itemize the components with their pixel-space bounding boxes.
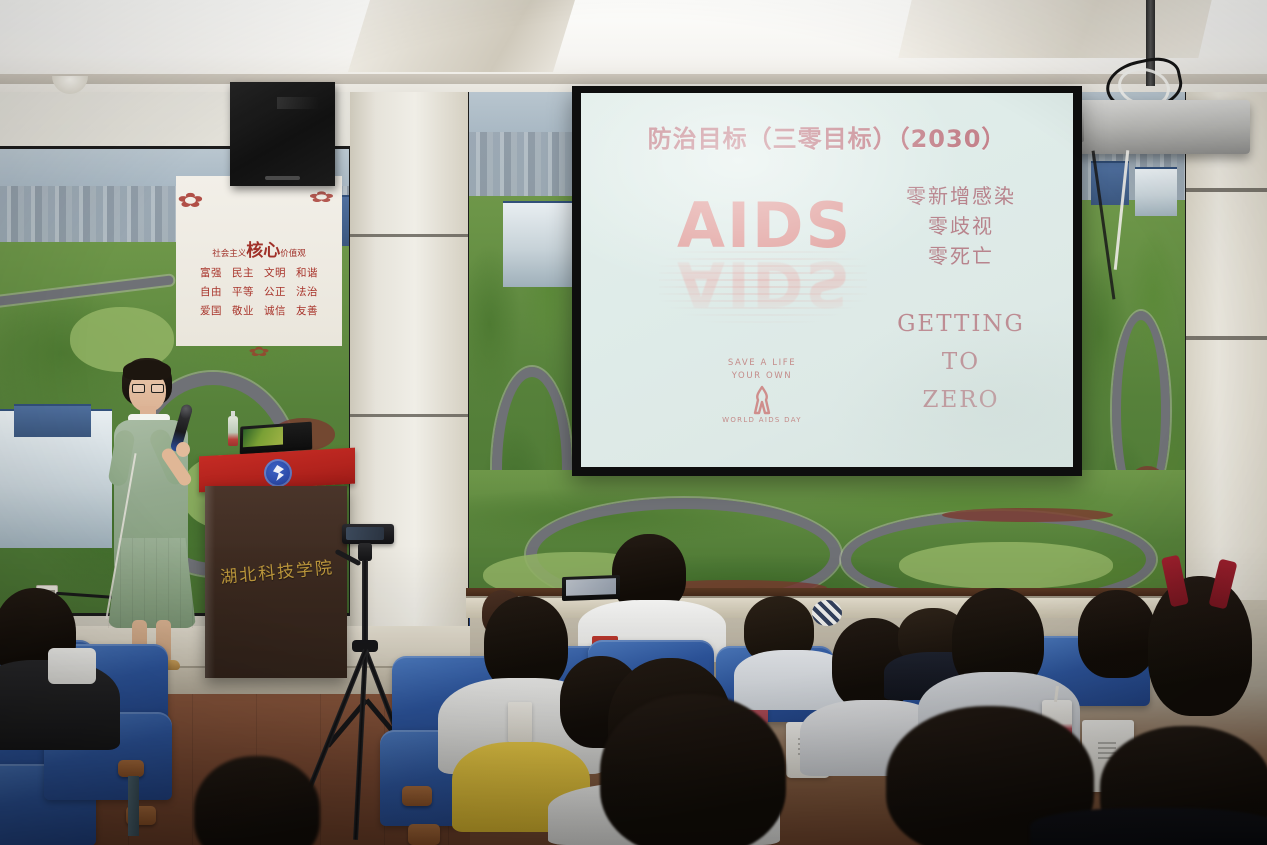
banner-heading-big: 核心: [246, 241, 280, 261]
core-value: 平等: [232, 283, 254, 302]
tripod-column: [362, 560, 368, 642]
motto-line-2: TO: [871, 343, 1051, 381]
ribbon-line-2: YOUR OWN: [687, 370, 837, 383]
seat-armrest: [408, 824, 440, 845]
slide-title: 防治目标（三零目标）（2030）: [581, 119, 1073, 154]
core-value: 富强: [200, 264, 222, 283]
banner-heading-prefix: 社会主义: [212, 249, 246, 259]
banner-heading-suffix: 价值观: [280, 249, 306, 259]
core-values-rows: 富强 民主 文明 和谐 自由 平等 公正 法治 爱国 敬业 诚信 友善: [176, 264, 342, 321]
core-value: 友善: [296, 302, 318, 321]
tissue-box: [508, 702, 532, 742]
core-values-row: 富强 民主 文明 和谐: [176, 264, 342, 283]
water-bottle: [228, 416, 238, 446]
core-value: 民主: [232, 264, 254, 283]
core-value: 公正: [264, 283, 286, 302]
university-logo-icon: [264, 459, 292, 487]
audience-member-head: [1148, 576, 1252, 716]
cloud-ornament-left-icon: ✿: [177, 188, 204, 212]
slide-goals-column: 零新增感染 零歧视 零死亡 GETTING TO ZERO: [871, 181, 1051, 419]
core-value: 爱国: [200, 302, 222, 321]
audience-member-sleeve: [48, 648, 96, 684]
ceiling-projector: [1068, 100, 1250, 154]
audience-member-head: [1078, 590, 1156, 678]
projection-screen-surface: 防治目标（三零目标）（2030） AIDS AIDS SAVE A LIFE Y…: [581, 93, 1073, 467]
goal-zero-discrimination: 零歧视: [871, 211, 1051, 241]
core-value: 文明: [264, 264, 286, 283]
hair-scrunchie: [812, 600, 842, 626]
glasses-icon: [132, 384, 164, 393]
ceiling-edge: [0, 74, 1267, 84]
seat-support-post: [128, 776, 139, 836]
audience-laptop: [562, 575, 620, 601]
projection-screen-frame: 防治目标（三零目标）（2030） AIDS AIDS SAVE A LIFE Y…: [572, 86, 1082, 476]
water-ripples: [659, 251, 867, 327]
getting-to-zero-block: GETTING TO ZERO: [871, 305, 1051, 419]
red-ribbon-icon: [752, 385, 772, 415]
seat-armrest: [402, 786, 432, 806]
core-value: 诚信: [264, 302, 286, 321]
goal-zero-new-infections: 零新增感染: [871, 181, 1051, 211]
recording-smartphone: [342, 524, 394, 544]
presenter-skirt: [108, 538, 196, 628]
presenter-fringe: [123, 360, 171, 380]
banner-heading: 社会主义核心价值观: [182, 236, 336, 261]
motto-line-1: GETTING: [871, 305, 1051, 343]
audience-laptop-screen: [566, 578, 616, 596]
goal-zero-deaths: 零死亡: [871, 241, 1051, 271]
motto-line-3: ZERO: [871, 381, 1051, 419]
audience-member-shoulders: [1030, 808, 1267, 845]
cloud-ornament-right-icon: ✿: [309, 188, 335, 206]
lecture-hall-photo: ✿ ✿ 社会主义核心价值观 富强 民主 文明 和谐 自由 平等 公正 法治 爱国…: [0, 0, 1267, 845]
core-values-row: 自由 平等 公正 法治: [176, 283, 342, 302]
core-values-row: 爱国 敬业 诚信 友善: [176, 302, 342, 321]
ceiling-beam: [348, 0, 575, 72]
core-value: 自由: [200, 283, 222, 302]
laptop-screen: [243, 427, 283, 448]
tripod-head: [358, 543, 372, 561]
seat-armrest: [118, 760, 144, 777]
core-value: 法治: [296, 283, 318, 302]
core-value: 和谐: [296, 264, 318, 283]
audience-member-head: [600, 694, 786, 845]
ceiling-beam-right: [898, 0, 1211, 58]
core-values-banner: ✿ ✿ 社会主义核心价值观 富强 民主 文明 和谐 自由 平等 公正 法治 爱国…: [176, 176, 342, 346]
ribbon-line-1: SAVE A LIFE: [687, 357, 837, 370]
world-aids-day-ribbon-block: SAVE A LIFE YOUR OWN WORLD AIDS DAY: [687, 357, 837, 424]
ribbon-footer: WORLD AIDS DAY: [687, 416, 837, 424]
presenter-hand: [176, 442, 190, 457]
core-value: 敬业: [232, 302, 254, 321]
aids-water-graphic: AIDS AIDS SAVE A LIFE YOUR OWN WORLD AID…: [677, 189, 847, 419]
wall-speaker: [230, 82, 335, 186]
presenter: [96, 358, 208, 676]
